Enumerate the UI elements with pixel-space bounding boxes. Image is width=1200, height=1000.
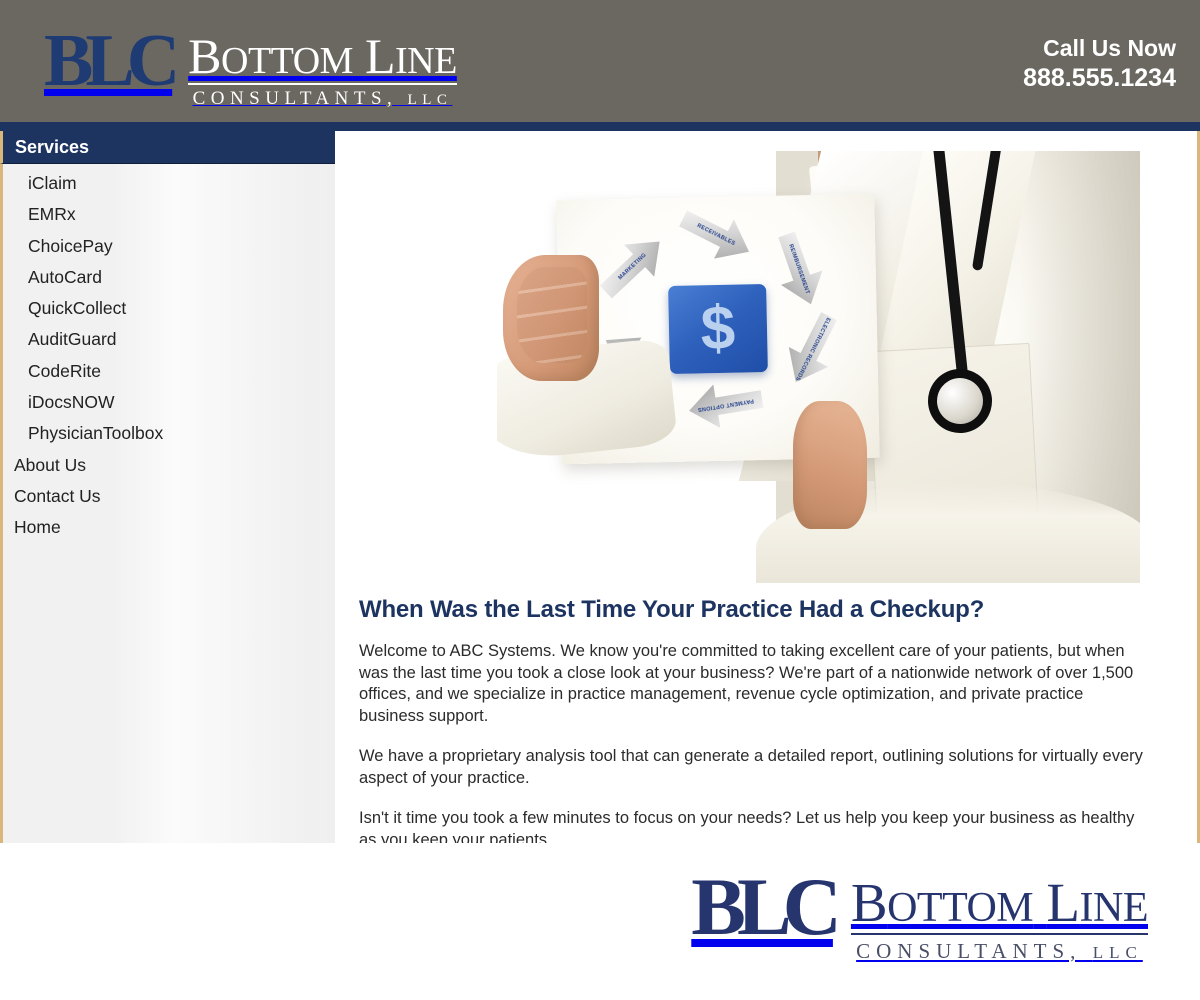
sidebar-item-quickcollect[interactable]: QuickCollect	[0, 293, 335, 324]
header-logo-ottom: OTTOM	[221, 40, 353, 82]
sidebar-item-iclaim[interactable]: iClaim	[0, 168, 335, 199]
sidebar-item-coderite[interactable]: CodeRite	[0, 356, 335, 387]
arrow-reimbursement: REIMBURSEMENT	[766, 227, 832, 311]
body-paragraph: We have a proprietary analysis tool that…	[359, 746, 1149, 789]
hero-image: $ RECEIVABLES REIMBURSEMENT ELECTRONIC R…	[497, 151, 1140, 583]
sidebar-section-title: Services	[3, 137, 89, 158]
page-title: When Was the Last Time Your Practice Had…	[359, 596, 1149, 624]
dollar-tile: $	[668, 284, 768, 374]
header-logo-divider	[188, 83, 457, 85]
header-logo[interactable]: BLC BOTTOM LINE CONSULTANTS, LLC	[44, 27, 457, 110]
footer-logo-monogram: BLC	[691, 869, 833, 944]
site-header: BLC BOTTOM LINE CONSULTANTS, LLC Call Us…	[0, 0, 1200, 122]
hand-right	[793, 401, 867, 529]
sidebar-item: About Us	[0, 450, 335, 481]
sidebar-item: QuickCollect	[0, 293, 335, 324]
sidebar-item-about-us[interactable]: About Us	[0, 450, 335, 481]
sidebar-item-autocard[interactable]: AutoCard	[0, 262, 335, 293]
sidebar-item: Home	[0, 512, 335, 543]
header-logo-company-name: BOTTOM LINE	[188, 33, 457, 80]
footer-logo-company-name: BOTTOM LINE	[851, 877, 1148, 929]
sidebar-item-home[interactable]: Home	[0, 512, 335, 543]
dollar-sign-icon: $	[700, 298, 736, 361]
sidebar-item-contact-us[interactable]: Contact Us	[0, 481, 335, 512]
footer-logo-tagline-llc: LLC	[1093, 943, 1143, 962]
sidebar-nav-list: iClaimEMRxChoicePayAutoCardQuickCollectA…	[0, 168, 335, 544]
sidebar-item-idocsnow[interactable]: iDocsNOW	[0, 387, 335, 418]
header-logo-ine: INE	[395, 40, 457, 82]
header-logo-tagline-main: CONSULTANTS,	[193, 88, 398, 109]
arrow-receivables: RECEIVABLES	[673, 199, 759, 272]
sidebar-item: iDocsNOW	[0, 387, 335, 418]
sidebar-item-choicepay[interactable]: ChoicePay	[0, 231, 335, 262]
sidebar-item: AuditGuard	[0, 324, 335, 355]
phone-number-link[interactable]: 888.555.1234	[1023, 63, 1176, 93]
footer-logo-divider	[851, 933, 1148, 935]
footer-logo-ine: INE	[1080, 885, 1148, 931]
sidebar-section-header-services: Services	[0, 131, 335, 164]
footer-logo-tagline: CONSULTANTS, LLC	[851, 939, 1148, 964]
arrow-electronic-records: ELECTRONIC RECORDS	[776, 306, 849, 392]
sidebar-item: PhysicianToolbox	[0, 418, 335, 449]
call-us-label: Call Us Now	[1023, 34, 1176, 63]
hero-image-inner: $ RECEIVABLES REIMBURSEMENT ELECTRONIC R…	[497, 151, 1140, 583]
sidebar-item: Contact Us	[0, 481, 335, 512]
body-copy: Welcome to ABC Systems. We know you're c…	[359, 641, 1149, 851]
body-paragraph: Welcome to ABC Systems. We know you're c…	[359, 641, 1149, 727]
header-logo-tagline: CONSULTANTS, LLC	[188, 88, 457, 110]
sidebar-item-emrx[interactable]: EMRx	[0, 199, 335, 230]
header-accent-rule	[0, 122, 1200, 131]
call-us-block: Call Us Now 888.555.1234	[1023, 34, 1176, 93]
sidebar-item: ChoicePay	[0, 231, 335, 262]
header-logo-monogram: BLC	[44, 27, 172, 95]
sidebar-item-physiciantoolbox[interactable]: PhysicianToolbox	[0, 418, 335, 449]
footer-logo-cap-b: B	[851, 872, 887, 933]
site-footer: BLC BOTTOM LINE CONSULTANTS, LLC	[0, 843, 1200, 1000]
arrow-payment-options: PAYMENT OPTIONS	[686, 377, 766, 432]
sidebar-item: CodeRite	[0, 356, 335, 387]
footer-logo-cap-l: L	[1046, 872, 1079, 933]
sidebar-item-auditguard[interactable]: AuditGuard	[0, 324, 335, 355]
header-logo-cap-l: L	[365, 28, 395, 84]
footer-logo[interactable]: BLC BOTTOM LINE CONSULTANTS, LLC	[691, 869, 1148, 964]
header-logo-tagline-llc: LLC	[408, 92, 453, 108]
footer-logo-wordmark: BOTTOM LINE CONSULTANTS, LLC	[851, 869, 1148, 964]
header-logo-cap-b: B	[188, 28, 221, 84]
arrow-marketing: MARKETING	[591, 225, 675, 308]
sidebar-item: EMRx	[0, 199, 335, 230]
footer-logo-ottom: OTTOM	[887, 885, 1033, 931]
page-root: BLC BOTTOM LINE CONSULTANTS, LLC Call Us…	[0, 0, 1200, 1000]
sidebar-item: iClaim	[0, 168, 335, 199]
sidebar-item: AutoCard	[0, 262, 335, 293]
header-logo-wordmark: BOTTOM LINE CONSULTANTS, LLC	[188, 27, 457, 110]
footer-logo-tagline-main: CONSULTANTS,	[856, 939, 1081, 963]
hand-left	[503, 255, 599, 381]
